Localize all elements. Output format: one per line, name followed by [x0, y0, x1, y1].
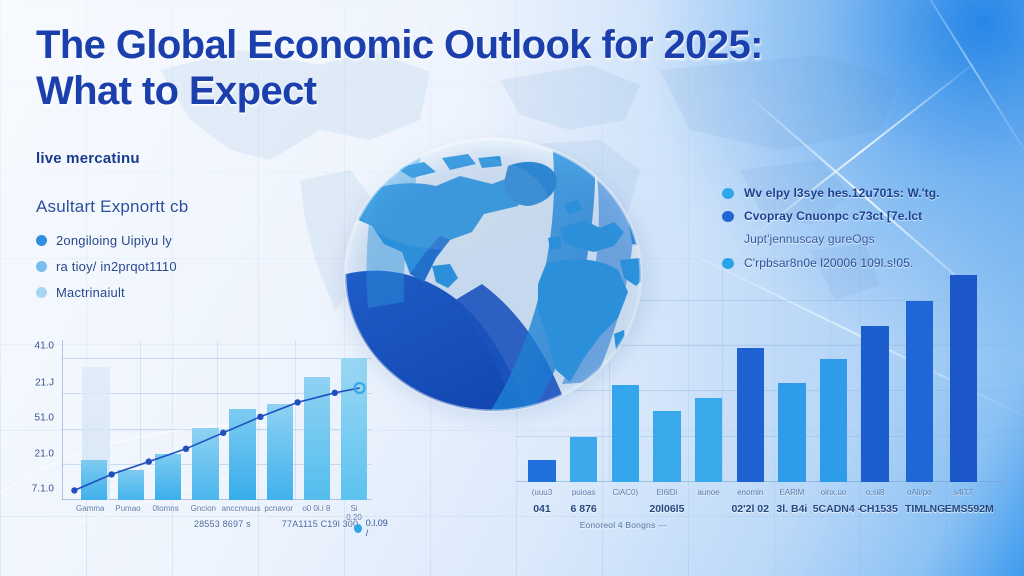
list-item-label: ra tioy/ in2prqot1110: [56, 259, 177, 274]
x-tick-label: o.sii8: [866, 488, 885, 497]
bar: [861, 326, 888, 482]
x-tick-label: (uuu3: [532, 488, 552, 497]
x-tick-label: o0 0i.i 8: [302, 504, 330, 513]
x-tick-label: pcnavor: [264, 504, 292, 513]
list-item-label: Wv elpy l3sye hes.12u701s: W.'tg.: [744, 186, 940, 200]
title-line-2: What to Expect: [36, 68, 896, 114]
bar: [820, 359, 847, 482]
left-heading: live mercatinu: [36, 150, 336, 167]
x-tick-value: 5CADN4 -: [813, 503, 861, 515]
left-chart-plot: [62, 340, 372, 500]
x-tick-label: Pumao: [115, 504, 140, 513]
chart-legend: 0.l.09 /: [354, 518, 389, 538]
chart-footnote: 77A1115 C19l 300: [282, 519, 358, 529]
list-item: Mactrinaiult: [36, 285, 336, 300]
bar: [737, 348, 764, 482]
bar: [528, 460, 555, 482]
bullet-dot-icon: [36, 287, 47, 298]
left-chart-axis-labels: Gamma Pumao 0tomns Gncion anccnnuus pcna…: [62, 502, 376, 532]
list-item-label: 2ongiloing Uipiyu ly: [56, 233, 172, 248]
title-line-1: The Global Economic Outlook for 2025:: [36, 23, 763, 67]
x-tick-label: Gamma: [76, 504, 104, 513]
x-tick-label: El6lDi: [656, 488, 677, 497]
x-tick-value: 6 876: [570, 503, 596, 515]
infographic-canvas: The Global Economic Outlook for 2025: Wh…: [0, 0, 1024, 576]
x-tick-value: CH1535: [859, 503, 898, 515]
x-tick-value: 02'2l 02: [731, 503, 769, 515]
globe-graphic: [332, 132, 654, 418]
x-tick-label: oAli/po: [907, 488, 931, 497]
list-item: Cvopray Cnuonpc c73ct [7e.lct: [722, 209, 1002, 223]
y-tick-label: 21.0: [24, 449, 54, 460]
x-tick-value: 3l. B4i: [776, 503, 807, 515]
page-title: The Global Economic Outlook for 2025: Wh…: [36, 22, 896, 114]
x-tick-label: puioas: [572, 488, 596, 497]
list-item: Wv elpy l3sye hes.12u701s: W.'tg.: [722, 186, 1002, 200]
x-tick-label: CiAC0): [612, 488, 638, 497]
left-bullet-list: 2ongiloing Uipiyu ly ra tioy/ in2prqot11…: [36, 233, 336, 300]
bar: [906, 301, 933, 482]
y-tick-label: 41.0: [24, 341, 54, 352]
globe-shadow: [346, 150, 646, 412]
x-tick-label: aunoe: [697, 488, 719, 497]
bullet-dot-icon: [36, 261, 47, 272]
chart-footnote: 28553 8697 s: [194, 519, 251, 529]
bar: [570, 437, 597, 482]
chart-caption: Eonoreol 4 Bongns ---: [580, 520, 667, 530]
x-tick-label: s4iTT: [953, 488, 973, 497]
bar: [950, 275, 977, 482]
left-chart: 41.0 21.J 51.0 21.0 7.1.0 Gamma Pumao 0t…: [24, 336, 376, 532]
x-tick-label: enomin: [737, 488, 763, 497]
trend-line-markers: [62, 340, 372, 500]
x-tick-label: 0tomns: [152, 504, 178, 513]
x-tick-label: EARlM: [779, 488, 804, 497]
list-item: ra tioy/ in2prqot1110: [36, 259, 336, 274]
legend-label: 0.l.09 /: [366, 518, 389, 538]
y-tick-label: 7.1.0: [24, 484, 54, 495]
bullet-dot-icon: [36, 235, 47, 246]
y-tick-label: 51.0: [24, 413, 54, 424]
x-tick-value: 20l06l5: [649, 503, 684, 515]
y-tick-label: 21.J: [24, 378, 54, 389]
list-item-label: Cvopray Cnuonpc c73ct [7e.lct: [744, 209, 922, 223]
bar: [653, 411, 680, 482]
list-item: 2ongiloing Uipiyu ly: [36, 233, 336, 248]
left-subheading: Asultart Expnortt cb: [36, 197, 336, 217]
bar: [778, 383, 805, 482]
right-plain-line: Jupt'jennuscay gureOgs: [744, 232, 1002, 246]
bullet-dot-icon: [722, 188, 734, 199]
left-text-block: live mercatinu Asultart Expnortt cb 2ong…: [36, 150, 336, 311]
x-tick-value: EMS592M: [945, 503, 994, 515]
x-tick-label: Gncion: [191, 504, 216, 513]
bullet-dot-icon: [722, 211, 734, 222]
x-tick-value: TIMLNG: [905, 503, 945, 515]
x-tick-label: oinx.uo: [821, 488, 847, 497]
legend-swatch-icon: [354, 524, 362, 533]
x-tick-label: anccnnuus: [222, 504, 261, 513]
list-item-label: Mactrinaiult: [56, 285, 125, 300]
right-chart-axis-labels: (uuu3 puioas CiAC0) El6lDi aunoe enomin …: [516, 484, 1006, 548]
bar: [695, 398, 722, 482]
x-tick-value: 041: [533, 503, 551, 515]
